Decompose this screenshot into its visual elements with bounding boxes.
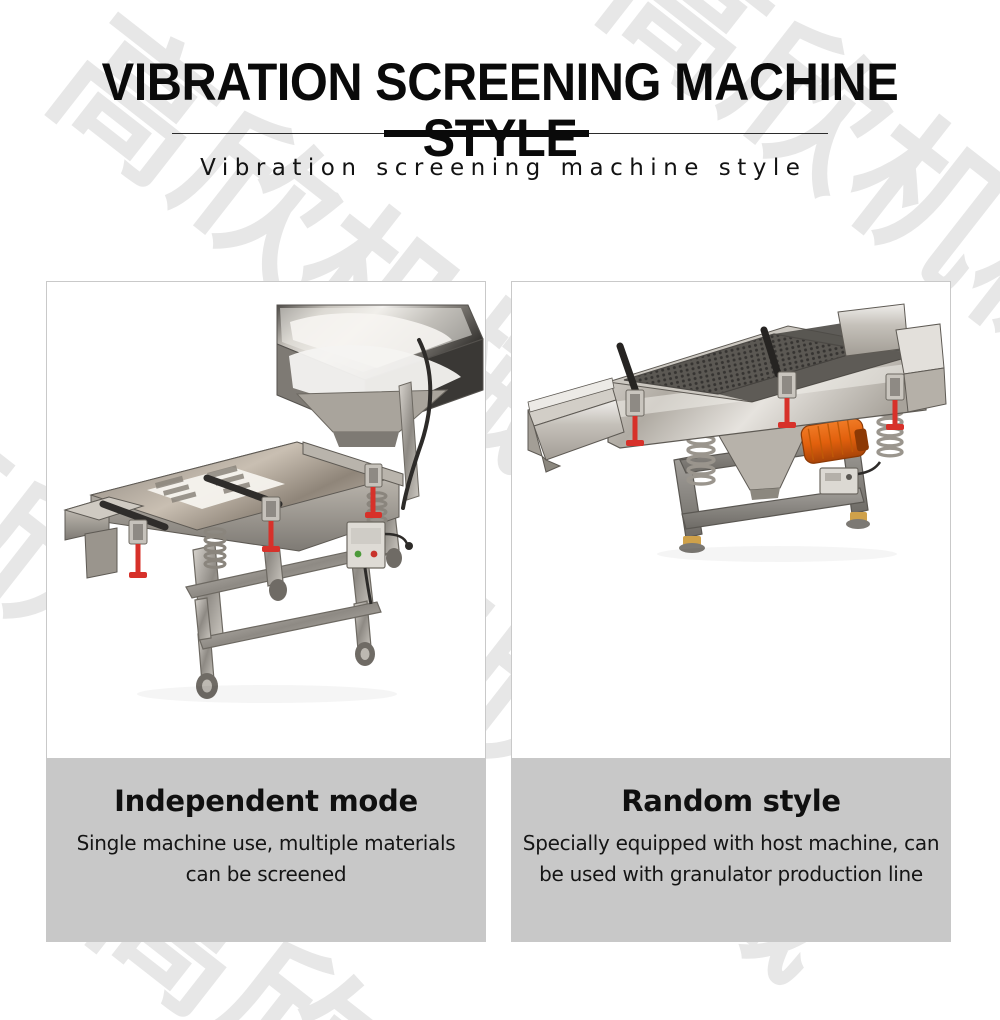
page-subtitle: Vibration screening machine style xyxy=(0,155,1000,181)
title-divider xyxy=(172,128,828,140)
caption-independent-mode: Independent mode Single machine use, mul… xyxy=(46,758,486,942)
caption-text: Specially equipped with host machine, ca… xyxy=(511,828,951,890)
caption-title: Independent mode xyxy=(46,784,486,818)
independent-vibration-screening-machine-photo xyxy=(46,281,486,758)
page-title: VIBRATION SCREENING MACHINE STYLE xyxy=(40,55,960,167)
caption-random-style: Random style Specially equipped with hos… xyxy=(511,758,951,942)
card-grid: Independent mode Single machine use, mul… xyxy=(46,281,954,943)
random-style-linear-vibrating-screen-photo xyxy=(511,281,951,758)
caption-text: Single machine use, multiple materials c… xyxy=(46,828,486,890)
card-independent-mode[interactable]: Independent mode Single machine use, mul… xyxy=(46,281,486,943)
divider-accent-bar xyxy=(384,130,589,137)
card-random-style[interactable]: Random style Specially equipped with hos… xyxy=(511,281,951,943)
caption-title: Random style xyxy=(511,784,951,818)
